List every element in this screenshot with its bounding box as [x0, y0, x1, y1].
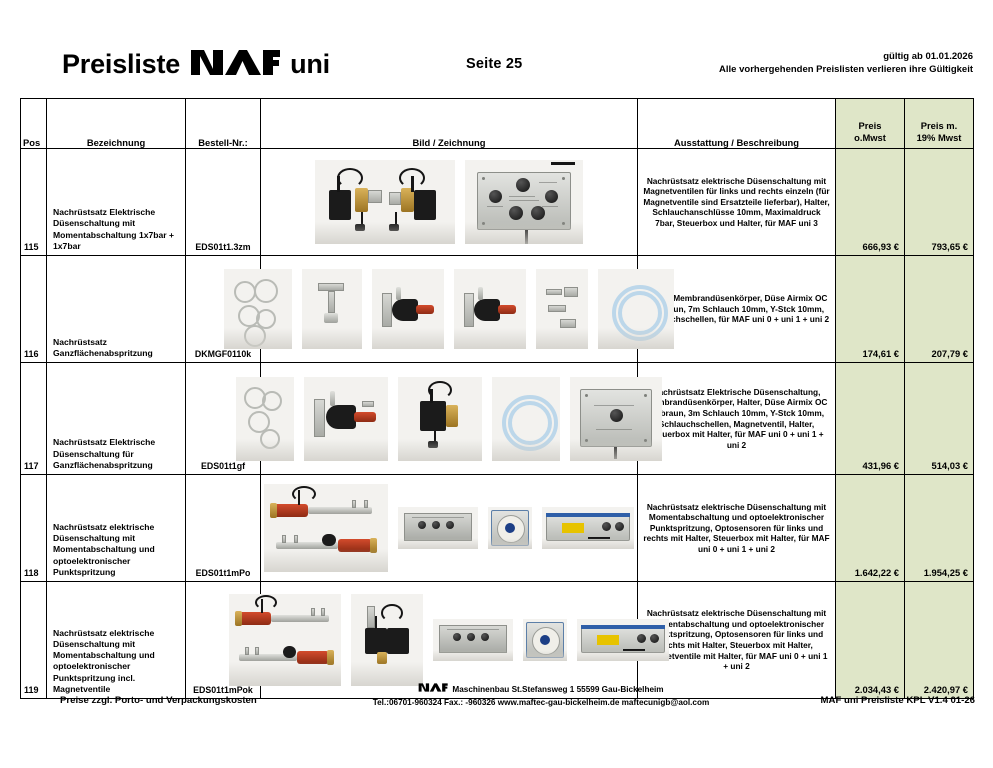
- cell-preis-netto: 1.642,22 €: [836, 475, 905, 582]
- column-header-pos: Pos: [21, 99, 47, 149]
- cell-product-image: [261, 582, 638, 699]
- product-photo-clamps: [236, 377, 294, 461]
- cell-preis-brutto: 514,03 €: [905, 363, 974, 475]
- footer-document-version: MAF uni Preisliste KPL V1.4 01-26: [821, 695, 975, 706]
- product-photo-steuerbox: [542, 507, 634, 549]
- preis-netto-line1: Preis: [836, 120, 904, 132]
- product-photo-nozzle-body: [302, 269, 362, 349]
- product-photo-magnetventile: [351, 594, 423, 686]
- column-header-ausstattung: Ausstattung / Beschreibung: [638, 99, 836, 149]
- cell-ausstattung: Nachrüstsatz Elektrische Düsenschaltung,…: [638, 363, 836, 475]
- table-row: 115 Nachrüstsatz Elektrische Düsenschalt…: [21, 149, 974, 256]
- title-prefix: Preisliste: [62, 49, 180, 79]
- page-number-label: Seite 25: [466, 56, 522, 72]
- product-photo-strip: [261, 256, 637, 362]
- preis-netto-line2: o.Mwst: [836, 132, 904, 144]
- cell-bezeichnung: Nachrüstsatz elektrische Düsenschaltung …: [47, 475, 186, 582]
- cell-product-image: [261, 149, 638, 256]
- validity-line-2: Alle vorhergehenden Preislisten verliere…: [719, 63, 973, 76]
- column-header-preis-brutto: Preis m. 19% Mwst: [905, 99, 974, 149]
- product-photo-control-box: [465, 160, 583, 244]
- cell-bestellnr: EDS01t1.3zm: [186, 149, 261, 256]
- preis-brutto-line2: 19% Mwst: [905, 132, 973, 144]
- maf-logo-icon: [189, 49, 281, 81]
- product-photo-control-box: [570, 377, 662, 461]
- product-photo-hose-coil: [598, 269, 674, 349]
- footer-contact-line: Tel.:06701-960324 Fax.: -960326 www.maft…: [331, 696, 751, 709]
- product-photo-membrane-valve: [304, 377, 388, 461]
- product-photo-valve-block: [398, 507, 478, 549]
- product-photo-membrane-valve-right: [454, 269, 526, 349]
- column-header-bild: Bild / Zeichnung: [261, 99, 638, 149]
- cell-preis-brutto: 793,65 €: [905, 149, 974, 256]
- footer-company-line: Maschinenbau St.Stefansweg 1 55599 Gau-B…: [331, 683, 751, 696]
- table-header-row: Pos Bezeichnung Bestell-Nr.: Bild / Zeic…: [21, 99, 974, 149]
- product-photo-strip: [261, 363, 637, 474]
- product-photo-spray-bars: [229, 594, 341, 686]
- footer-company-address: Maschinenbau St.Stefansweg 1 55599 Gau-B…: [452, 683, 663, 696]
- cell-pos: 116: [21, 256, 47, 363]
- table-body: 115 Nachrüstsatz Elektrische Düsenschalt…: [21, 149, 974, 699]
- cell-pos: 119: [21, 582, 47, 699]
- cell-pos: 117: [21, 363, 47, 475]
- cell-bezeichnung: Nachrüstsatz Elektrische Düsenschaltung …: [47, 149, 186, 256]
- footer-company-block: Maschinenbau St.Stefansweg 1 55599 Gau-B…: [331, 683, 751, 709]
- table-header: Pos Bezeichnung Bestell-Nr.: Bild / Zeic…: [21, 99, 974, 149]
- title-suffix: uni: [290, 49, 330, 79]
- product-photo-fittings: [536, 269, 588, 349]
- product-photo-solenoid-pair: [315, 160, 455, 244]
- cell-preis-brutto: 207,79 €: [905, 256, 974, 363]
- product-photo-spray-bars: [264, 484, 388, 572]
- validity-note: gültig ab 01.01.2026 Alle vorhergehenden…: [719, 50, 973, 76]
- cell-bestellnr: EDS01t1mPo: [186, 475, 261, 582]
- product-photo-hose-coil: [492, 377, 560, 461]
- table-row: 119 Nachrüstsatz elektrische Düsenschalt…: [21, 582, 974, 699]
- column-header-preis-netto: Preis o.Mwst: [836, 99, 905, 149]
- product-photo-clamps: [224, 269, 292, 349]
- table-row: 118 Nachrüstsatz elektrische Düsenschalt…: [21, 475, 974, 582]
- cell-preis-netto: 174,61 €: [836, 256, 905, 363]
- product-photo-rotary-dial: [523, 619, 567, 661]
- product-photo-strip: [261, 149, 637, 255]
- price-table: Pos Bezeichnung Bestell-Nr.: Bild / Zeic…: [20, 98, 974, 699]
- footer-shipping-note: Preise zzgl. Porto- und Verpackungskoste…: [60, 695, 257, 706]
- product-photo-rotary-dial: [488, 507, 532, 549]
- document-header: Preisliste uni Seite 25 gültig ab 01.01.…: [0, 48, 993, 94]
- maf-logo-icon-footer: [418, 683, 448, 696]
- cell-bezeichnung: Nachrüstsatz Elektrische Düsenschaltung …: [47, 363, 186, 475]
- cell-bezeichnung: Nachrüstsatz elektrische Düsenschaltung …: [47, 582, 186, 699]
- column-header-bezeichnung: Bezeichnung: [47, 99, 186, 149]
- cell-preis-netto: 666,93 €: [836, 149, 905, 256]
- cell-preis-netto: 431,96 €: [836, 363, 905, 475]
- price-list-page: Preisliste uni Seite 25 gültig ab 01.01.…: [0, 0, 993, 768]
- cell-product-image: [261, 475, 638, 582]
- cell-ausstattung: Nachrüstsatz elektrische Düsenschaltung …: [638, 149, 836, 256]
- product-photo-solenoid-valve: [398, 377, 482, 461]
- preis-brutto-line1: Preis m.: [905, 120, 973, 132]
- page-title: Preisliste uni: [62, 48, 330, 80]
- cell-pos: 115: [21, 149, 47, 256]
- table-row: 117 Nachrüstsatz Elektrische Düsenschalt…: [21, 363, 974, 475]
- product-photo-membrane-valve-left: [372, 269, 444, 349]
- cell-pos: 118: [21, 475, 47, 582]
- table-row: 116 Nachrüstsatz Ganzflächenabspritzung …: [21, 256, 974, 363]
- cell-product-image: [261, 256, 638, 363]
- cell-preis-netto: 2.034,43 €: [836, 582, 905, 699]
- product-photo-steuerbox: [577, 619, 669, 661]
- cell-ausstattung: Nachrüstsatz elektrische Düsenschaltung …: [638, 475, 836, 582]
- cell-preis-brutto: 2.420,97 €: [905, 582, 974, 699]
- product-photo-strip: [261, 475, 637, 581]
- cell-bezeichnung: Nachrüstsatz Ganzflächenabspritzung: [47, 256, 186, 363]
- validity-line-1: gültig ab 01.01.2026: [719, 50, 973, 63]
- product-photo-strip: [261, 582, 637, 698]
- column-header-bestellnr: Bestell-Nr.:: [186, 99, 261, 149]
- cell-product-image: [261, 363, 638, 475]
- product-photo-valve-block: [433, 619, 513, 661]
- cell-preis-brutto: 1.954,25 €: [905, 475, 974, 582]
